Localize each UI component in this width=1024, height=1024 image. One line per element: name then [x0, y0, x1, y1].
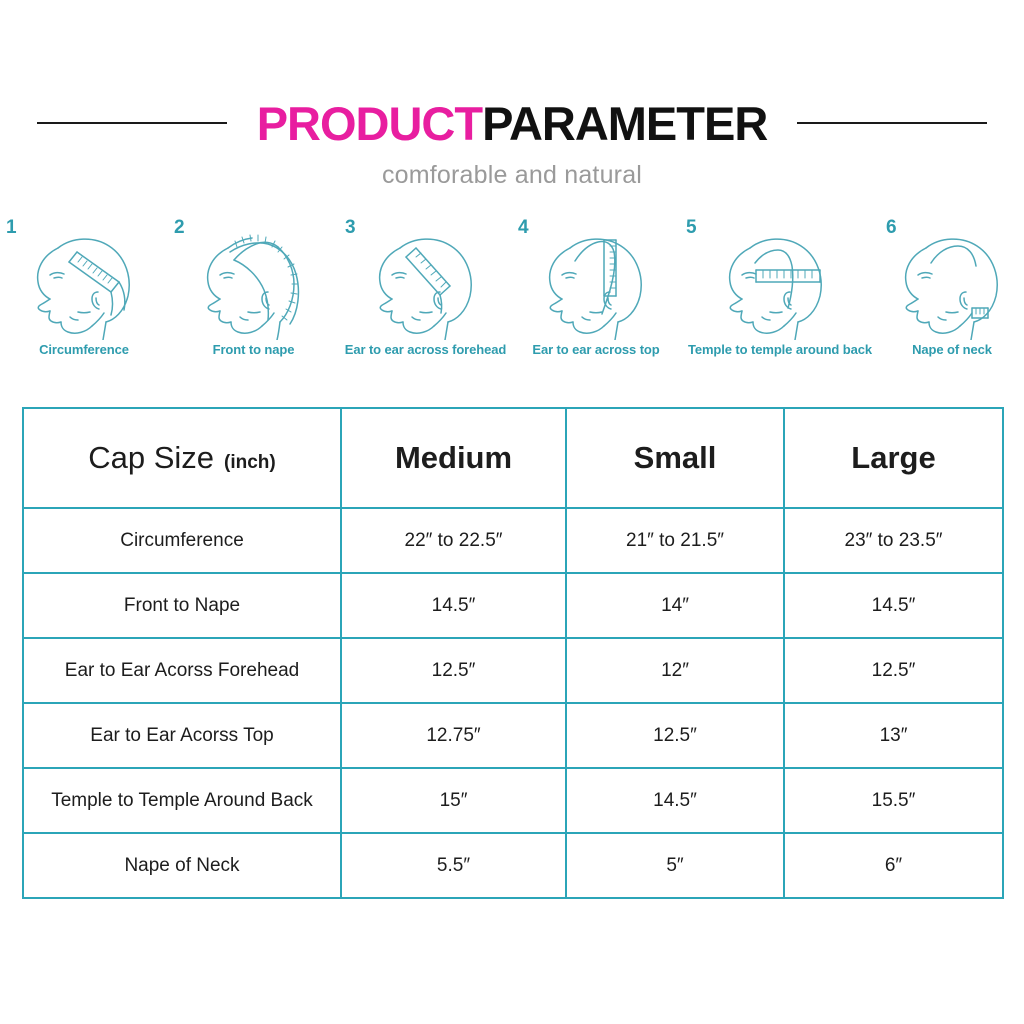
- row-value-medium: 14.5″: [341, 573, 566, 638]
- header-rule-right: [797, 122, 987, 124]
- row-value-large: 23″ to 23.5″: [784, 508, 1003, 573]
- row-value-medium: 15″: [341, 768, 566, 833]
- head-profile-ear-to-ear-forehead-tape-icon: [356, 212, 496, 340]
- illustration-number: 4: [518, 218, 529, 237]
- table-header-row: Cap Size(inch) Medium Small Large: [23, 408, 1003, 508]
- cap-size-table-wrapper: Cap Size(inch) Medium Small Large Circum…: [22, 407, 1002, 899]
- page-header: PRODUCTPARAMETER comforable and natural: [0, 95, 1024, 190]
- illustration-number: 5: [686, 218, 697, 237]
- illustration-item-nape-of-neck: 6: [880, 212, 1024, 380]
- row-value-large: 14.5″: [784, 573, 1003, 638]
- row-label: Ear to Ear Acorss Top: [23, 703, 341, 768]
- row-value-medium: 12.5″: [341, 638, 566, 703]
- table-row: Ear to Ear Acorss Forehead 12.5″ 12″ 12.…: [23, 638, 1003, 703]
- table-row: Front to Nape 14.5″ 14″ 14.5″: [23, 573, 1003, 638]
- row-value-large: 6″: [784, 833, 1003, 898]
- title-row: PRODUCTPARAMETER: [0, 95, 1024, 151]
- illustration-number: 1: [6, 218, 17, 237]
- table-row: Temple to Temple Around Back 15″ 14.5″ 1…: [23, 768, 1003, 833]
- row-value-small: 12.5″: [566, 703, 784, 768]
- table-header-cap-size: Cap Size(inch): [23, 408, 341, 508]
- illustration-item-circumference: 1: [0, 212, 168, 380]
- table-row: Ear to Ear Acorss Top 12.75″ 12.5″ 13″: [23, 703, 1003, 768]
- illustration-caption: Nape of neck: [912, 342, 992, 357]
- table-header-medium: Medium: [341, 408, 566, 508]
- table-row: Circumference 22″ to 22.5″ 21″ to 21.5″ …: [23, 508, 1003, 573]
- row-label: Front to Nape: [23, 573, 341, 638]
- table-header-small: Small: [566, 408, 784, 508]
- illustration-item-temple-to-temple: 5: [680, 212, 880, 380]
- row-label: Circumference: [23, 508, 341, 573]
- row-label: Temple to Temple Around Back: [23, 768, 341, 833]
- page-title-accent: PRODUCT: [257, 97, 482, 150]
- page-title-main: PARAMETER: [482, 97, 767, 150]
- illustration-caption: Front to nape: [213, 342, 295, 357]
- illustration-item-ear-to-ear-forehead: 3: [339, 212, 512, 380]
- illustration-number: 3: [345, 218, 356, 237]
- row-value-large: 12.5″: [784, 638, 1003, 703]
- illustration-number: 2: [174, 218, 185, 237]
- head-profile-front-to-nape-tape-icon: [184, 212, 324, 340]
- cap-size-text: Cap Size: [88, 440, 214, 475]
- measurement-illustration-strip: 1: [0, 212, 1024, 380]
- row-value-medium: 12.75″: [341, 703, 566, 768]
- illustration-item-front-to-nape: 2: [168, 212, 339, 380]
- row-label: Nape of Neck: [23, 833, 341, 898]
- row-value-large: 13″: [784, 703, 1003, 768]
- row-value-large: 15.5″: [784, 768, 1003, 833]
- row-label: Ear to Ear Acorss Forehead: [23, 638, 341, 703]
- head-profile-ear-to-ear-top-tape-icon: [526, 212, 666, 340]
- row-value-small: 21″ to 21.5″: [566, 508, 784, 573]
- head-profile-circumference-tape-icon: [14, 212, 154, 340]
- product-parameter-page: PRODUCTPARAMETER comforable and natural …: [0, 0, 1024, 1024]
- header-rule-left: [37, 122, 227, 124]
- table-row: Nape of Neck 5.5″ 5″ 6″: [23, 833, 1003, 898]
- illustration-number: 6: [886, 218, 897, 237]
- page-title: PRODUCTPARAMETER: [257, 100, 768, 147]
- illustration-caption: Ear to ear across top: [532, 342, 659, 357]
- cap-size-unit: (inch): [224, 452, 276, 473]
- illustration-caption: Temple to temple around back: [688, 342, 872, 357]
- page-subtitle: comforable and natural: [0, 161, 1024, 190]
- row-value-small: 14″: [566, 573, 784, 638]
- illustration-item-ear-to-ear-top: 4: [512, 212, 680, 380]
- row-value-medium: 5.5″: [341, 833, 566, 898]
- row-value-small: 5″: [566, 833, 784, 898]
- head-profile-nape-of-neck-tape-icon: [882, 212, 1022, 340]
- head-profile-temple-to-temple-tape-icon: [706, 212, 854, 340]
- row-value-small: 14.5″: [566, 768, 784, 833]
- illustration-caption: Circumference: [39, 342, 129, 357]
- table-header-large: Large: [784, 408, 1003, 508]
- illustration-caption: Ear to ear across forehead: [345, 342, 506, 357]
- cap-size-table: Cap Size(inch) Medium Small Large Circum…: [22, 407, 1004, 899]
- row-value-medium: 22″ to 22.5″: [341, 508, 566, 573]
- row-value-small: 12″: [566, 638, 784, 703]
